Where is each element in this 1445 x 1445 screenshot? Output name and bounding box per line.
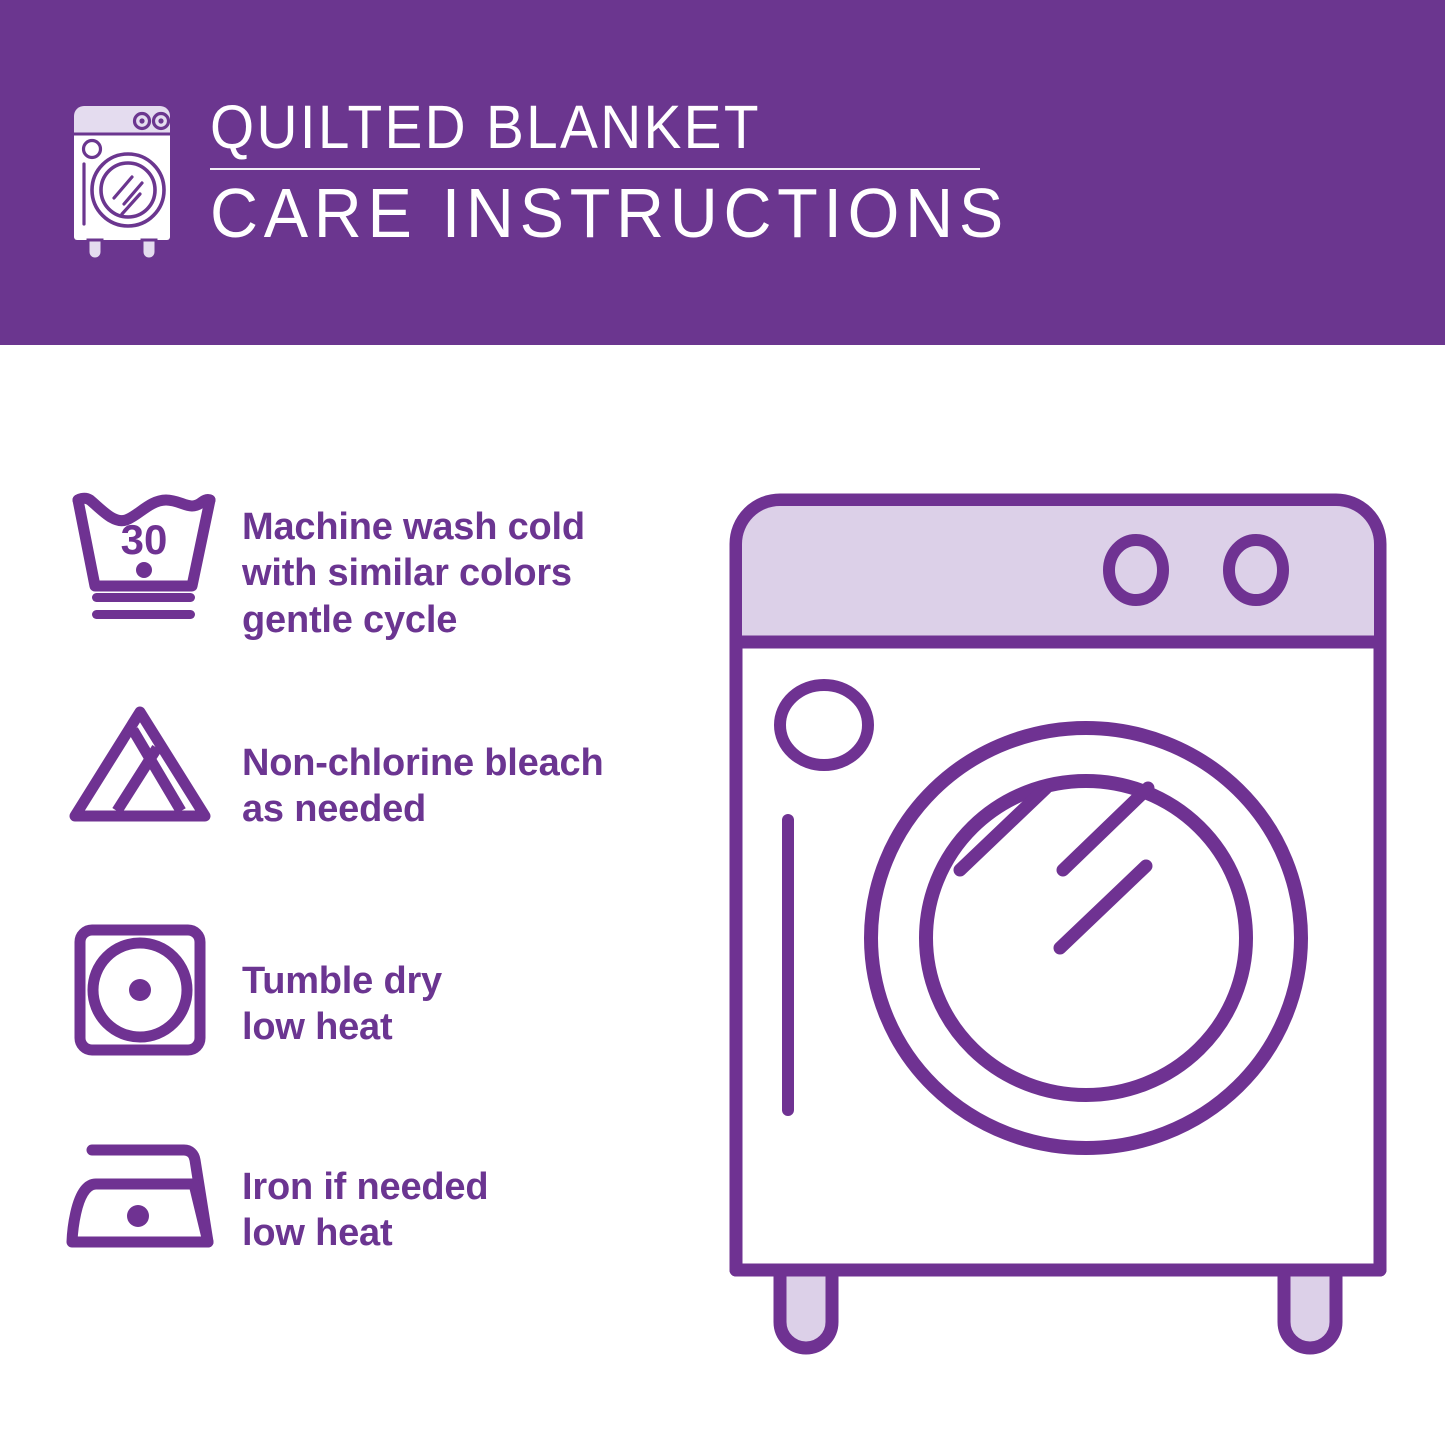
list-item-label: Non-chlorine bleach as needed: [242, 698, 603, 833]
iron-low-heat-icon: [62, 1138, 242, 1268]
header-title-group: QUILTED BLANKET CARE INSTRUCTIONS: [210, 96, 1051, 250]
tumble-dry-low-icon: [62, 918, 242, 1063]
non-chlorine-bleach-triangle-icon: [62, 698, 242, 838]
list-item-label: Machine wash cold with similar colors ge…: [242, 478, 585, 643]
list-item-label: Iron if needed low heat: [242, 1138, 488, 1257]
washing-machine-icon: [62, 102, 182, 262]
list-item: 30 Machine wash cold with similar colors…: [62, 478, 702, 698]
list-item-label: Tumble dry low heat: [242, 918, 442, 1051]
wash-tub-30-icon: 30: [62, 478, 242, 628]
knob-right: [1229, 540, 1283, 600]
header-content: QUILTED BLANKET CARE INSTRUCTIONS: [62, 96, 1051, 262]
instruction-list: 30 Machine wash cold with similar colors…: [62, 478, 702, 1358]
washing-machine-illustration: [718, 470, 1398, 1370]
leg-right: [1284, 1270, 1336, 1348]
wash-temp-label: 30: [121, 516, 168, 563]
page-subtitle: CARE INSTRUCTIONS: [210, 178, 1009, 249]
list-item: Non-chlorine bleach as needed: [62, 698, 702, 918]
title-divider: [210, 168, 980, 170]
care-instructions-page: QUILTED BLANKET CARE INSTRUCTIONS 30: [0, 0, 1445, 1445]
page-title: QUILTED BLANKET: [210, 96, 992, 158]
list-item: Iron if needed low heat: [62, 1138, 702, 1358]
leg-left: [780, 1270, 832, 1348]
header-banner: QUILTED BLANKET CARE INSTRUCTIONS: [0, 0, 1445, 345]
knob-left: [1109, 540, 1163, 600]
list-item: Tumble dry low heat: [62, 918, 702, 1138]
